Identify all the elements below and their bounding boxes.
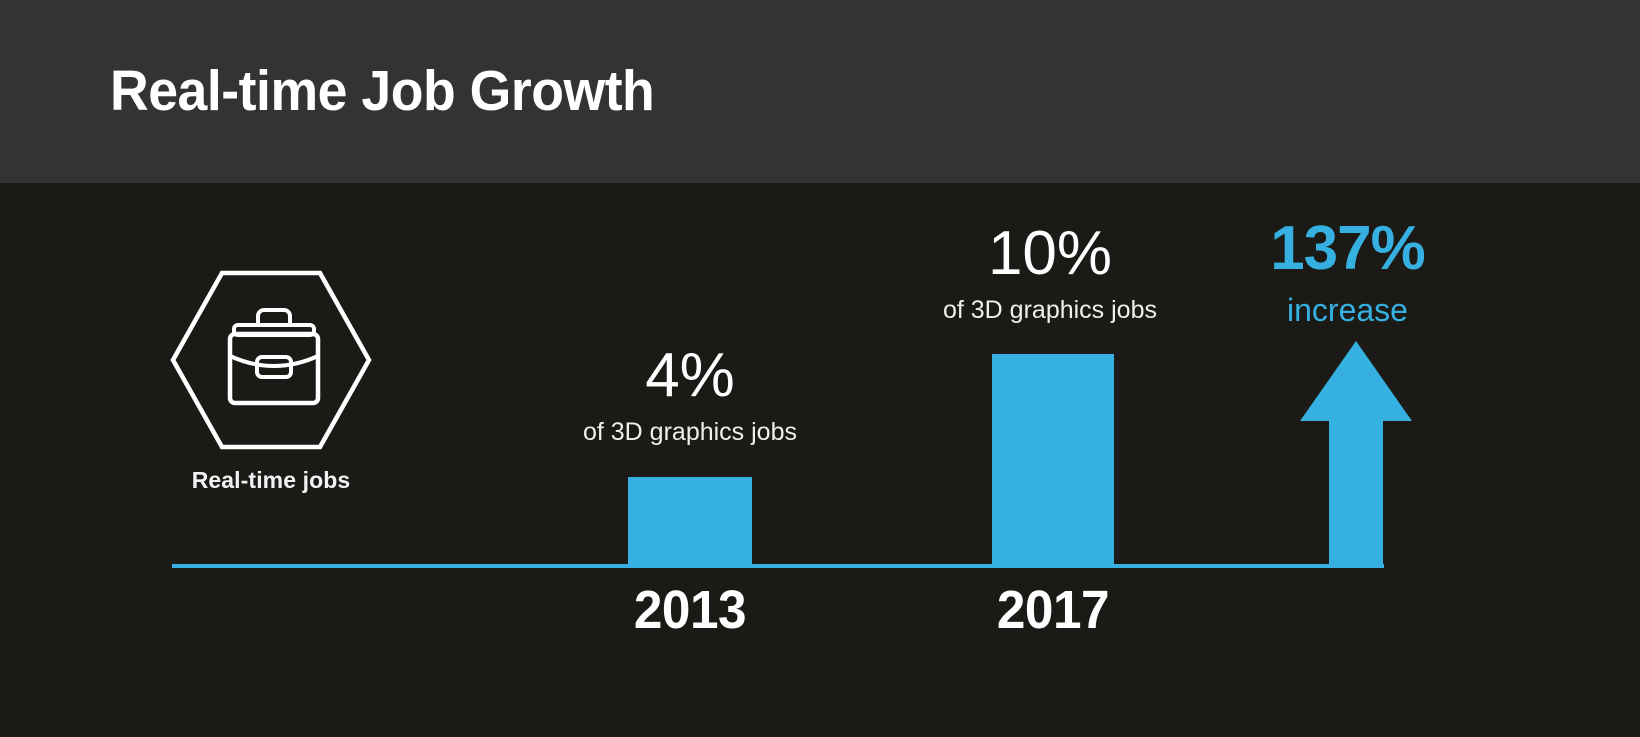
realtime-jobs-icon-block: Real-time jobs — [168, 268, 374, 494]
callout-2017-sublabel: of 3D graphics jobs — [900, 297, 1200, 325]
year-label-2013: 2013 — [576, 579, 804, 641]
callout-2013-value: 4% — [540, 345, 840, 407]
callout-2013: 4% of 3D graphics jobs — [540, 345, 840, 447]
year-label-2017: 2017 — [939, 579, 1167, 641]
callout-2017: 10% of 3D graphics jobs — [900, 223, 1200, 325]
page-title: Real-time Job Growth — [110, 58, 654, 124]
header-band: Real-time Job Growth — [0, 0, 1640, 183]
bar-2017 — [992, 354, 1114, 565]
increase-label: increase — [1245, 294, 1450, 326]
realtime-jobs-caption: Real-time jobs — [168, 467, 374, 494]
callout-2013-sublabel: of 3D graphics jobs — [540, 419, 840, 447]
chart-body: Real-time jobs 4% of 3D graphics jobs 10… — [0, 183, 1640, 737]
infographic-canvas: Real-time Job Growth Real-time jobs 4% o… — [0, 0, 1640, 737]
bar-2013 — [628, 477, 752, 565]
axis-baseline — [172, 564, 1384, 568]
callout-increase: 137% increase — [1245, 218, 1450, 326]
callout-2017-value: 10% — [900, 223, 1200, 285]
briefcase-hexagon-icon — [168, 268, 374, 453]
increase-percent-value: 137% — [1245, 218, 1450, 280]
up-arrow-icon — [1300, 341, 1412, 567]
